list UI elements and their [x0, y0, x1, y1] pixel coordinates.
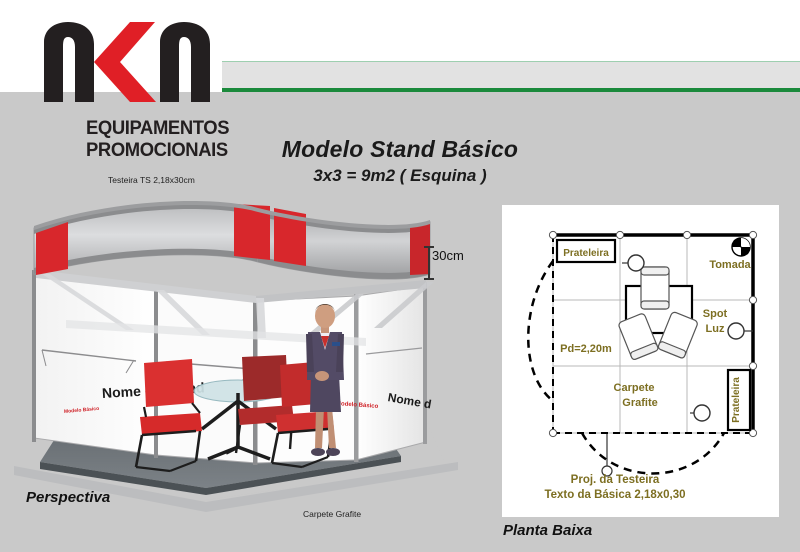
floorplan-projection-label-2: Texto da Básica 2,18x0,30: [544, 489, 685, 501]
chair-left: [136, 359, 202, 471]
testeira-dimension-label: Testeira TS 2,18x30cm: [108, 175, 195, 185]
floorplan-projection-label-1: Proj. da Testeira: [571, 474, 660, 486]
floorplan-outlet-label: Tomada: [709, 259, 751, 271]
outlet-symbol-icon: [732, 238, 750, 256]
floorplan-carpet-label-2: Grafite: [622, 397, 657, 409]
floorplan-carpet-label-1: Carpete: [614, 382, 655, 394]
floorplan-shelf-right-label: Prateleira: [731, 377, 742, 423]
floorplan-spot-label-1: Spot: [703, 308, 728, 320]
floorplan-shelf-top-label: Prateleira: [563, 248, 609, 259]
nkn-logomark-icon: [42, 20, 242, 104]
fascia-height-label: 30cm: [432, 248, 464, 263]
page-title: Modelo Stand Básico: [0, 136, 800, 163]
brand-logo: EQUIPAMENTOS PROMOCIONAIS: [42, 20, 242, 120]
floorplan-spot-label-2: Luz: [706, 323, 725, 335]
carpet-label: Carpete Grafite: [303, 509, 361, 519]
perspective-caption: Perspectiva: [26, 489, 110, 506]
floorplan-ceiling-height-label: Pd=2,20m: [560, 343, 612, 355]
perspective-illustration: Nome do Stand Modelo Básico Modelo Básic…: [6, 170, 476, 530]
hostess-figure: [296, 296, 354, 468]
floorplan-caption: Planta Baixa: [503, 522, 592, 539]
document-page: EQUIPAMENTOS PROMOCIONAIS Modelo Stand B…: [0, 0, 800, 552]
header-thin-green-line: [222, 61, 800, 62]
floorplan-drawing: Prateleira Tomada Spot Luz Pd=2,20m Carp…: [502, 205, 779, 517]
